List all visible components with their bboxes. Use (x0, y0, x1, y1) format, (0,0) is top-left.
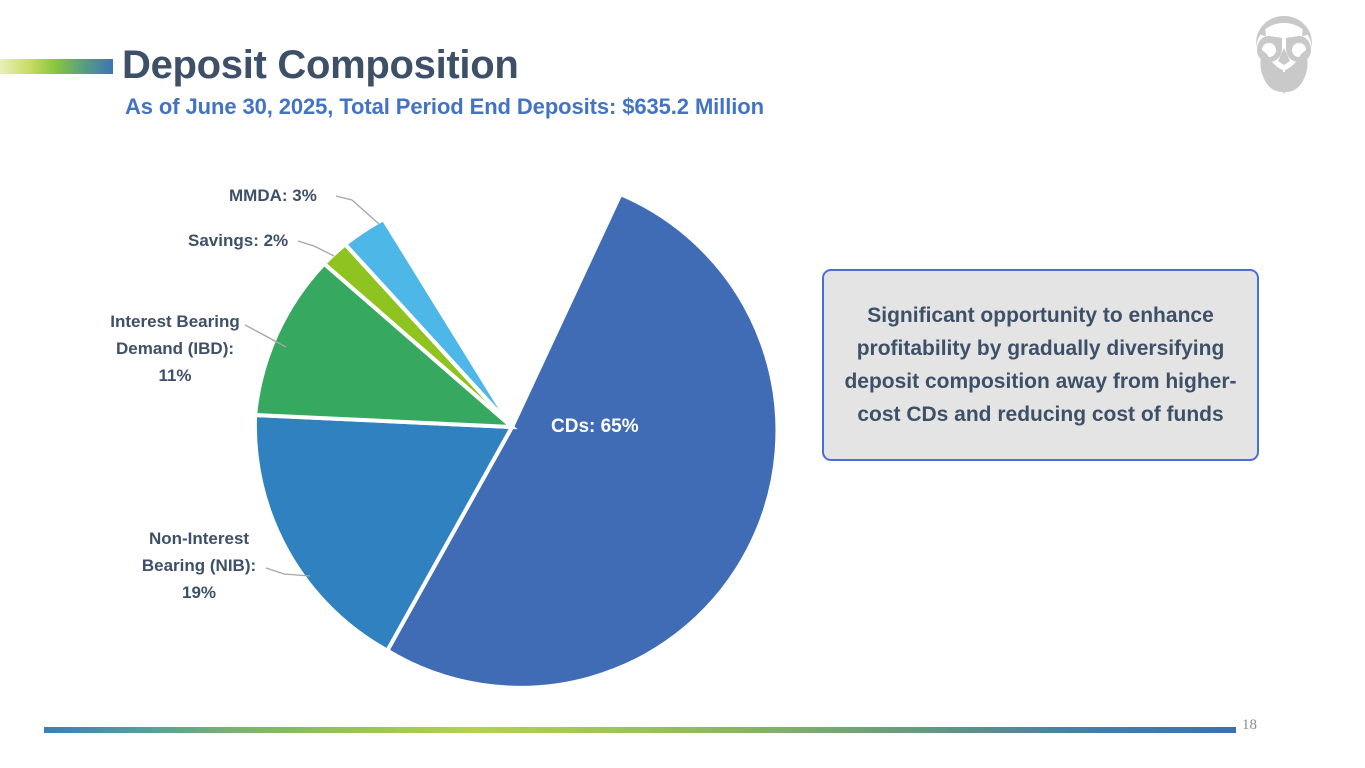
pie-label-ibd: Interest Bearing Demand (IBD): 11% (92, 308, 258, 389)
callout-text: Significant opportunity to enhance profi… (842, 299, 1239, 431)
pie-chart: MMDA: 3% Savings: 2% Interest Bearing De… (0, 0, 820, 720)
pie-label-nib-line2: Bearing (NIB): (124, 552, 274, 579)
leader-line-savings (298, 241, 334, 256)
pie-label-ibd-line2: Demand (IBD): (92, 335, 258, 362)
pie-label-ibd-line3: 11% (92, 362, 258, 389)
pie-slices (255, 194, 778, 688)
slide: Deposit Composition As of June 30, 2025,… (0, 0, 1365, 768)
pie-label-savings: Savings: 2% (188, 227, 288, 254)
callout-box: Significant opportunity to enhance profi… (822, 269, 1259, 461)
pie-label-cds: CDs: 65% (551, 413, 639, 440)
pie-label-mmda: MMDA: 3% (229, 182, 317, 209)
owl-logo (1249, 12, 1319, 94)
footer-gradient-bar (44, 727, 1236, 733)
leader-line-mmda (336, 196, 379, 224)
pie-label-nib-line1: Non-Interest (124, 525, 274, 552)
pie-label-ibd-line1: Interest Bearing (92, 308, 258, 335)
pie-label-nib-line3: 19% (124, 579, 274, 606)
pie-label-nib: Non-Interest Bearing (NIB): 19% (124, 525, 274, 606)
page-number: 18 (1242, 717, 1257, 734)
